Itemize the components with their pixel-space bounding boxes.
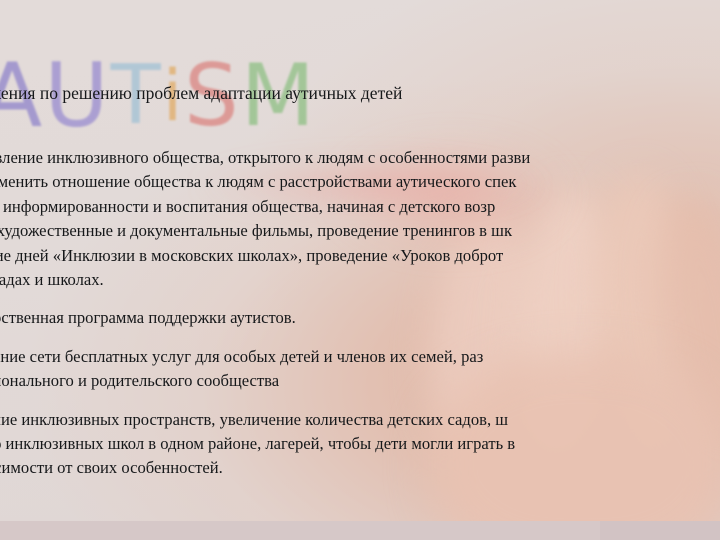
slide-text-layer: ложения по решению проблем адаптации аут…: [0, 0, 720, 540]
paragraph-line-text: ты, художественные и документальные филь…: [0, 219, 512, 243]
paragraph-line-text: дение дней «Инклюзии в московских школах…: [0, 244, 503, 268]
paragraph-line: лько инклюзивных школ в одном районе, ла…: [0, 432, 720, 456]
paragraph-line: ессионального и родительского сообщества: [0, 369, 720, 393]
slide-body: ановление инклюзивного общества, открыто…: [0, 146, 720, 492]
paragraph-line-text: о изменить отношение общества к людям с …: [0, 170, 516, 194]
body-paragraph-4: здание инклюзивных пространств, увеличен…: [0, 408, 720, 481]
paragraph-line: оздание сети бесплатных услуг для особых…: [0, 345, 720, 369]
paragraph-line: ты, художественные и документальные филь…: [0, 219, 720, 243]
paragraph-line-text: здание инклюзивных пространств, увеличен…: [0, 408, 508, 432]
paragraph-line-text: лько инклюзивных школ в одном районе, ла…: [0, 432, 515, 456]
presentation-slide: A U T i S M ложения по решению проблем а…: [0, 0, 720, 540]
paragraph-line: ависимости от своих особенностей.: [0, 456, 720, 480]
body-paragraph-1: ановление инклюзивного общества, открыто…: [0, 146, 720, 292]
paragraph-line: ударственная программа поддержки аутисто…: [0, 306, 720, 330]
paragraph-line: их садах и школах.: [0, 268, 720, 292]
paragraph-line: цью информированности и воспитания общес…: [0, 195, 720, 219]
body-paragraph-3: оздание сети бесплатных услуг для особых…: [0, 345, 720, 394]
paragraph-line: о изменить отношение общества к людям с …: [0, 170, 720, 194]
paragraph-line: дение дней «Инклюзии в московских школах…: [0, 244, 720, 268]
paragraph-line-text: ановление инклюзивного общества, открыто…: [0, 146, 530, 170]
body-paragraph-2: ударственная программа поддержки аутисто…: [0, 306, 720, 330]
paragraph-line-text: цью информированности и воспитания общес…: [0, 195, 495, 219]
slide-title: ложения по решению проблем адаптации аут…: [0, 81, 720, 105]
paragraph-line: здание инклюзивных пространств, увеличен…: [0, 408, 720, 432]
paragraph-line: ановление инклюзивного общества, открыто…: [0, 146, 720, 170]
paragraph-line-text: оздание сети бесплатных услуг для особых…: [0, 345, 483, 369]
